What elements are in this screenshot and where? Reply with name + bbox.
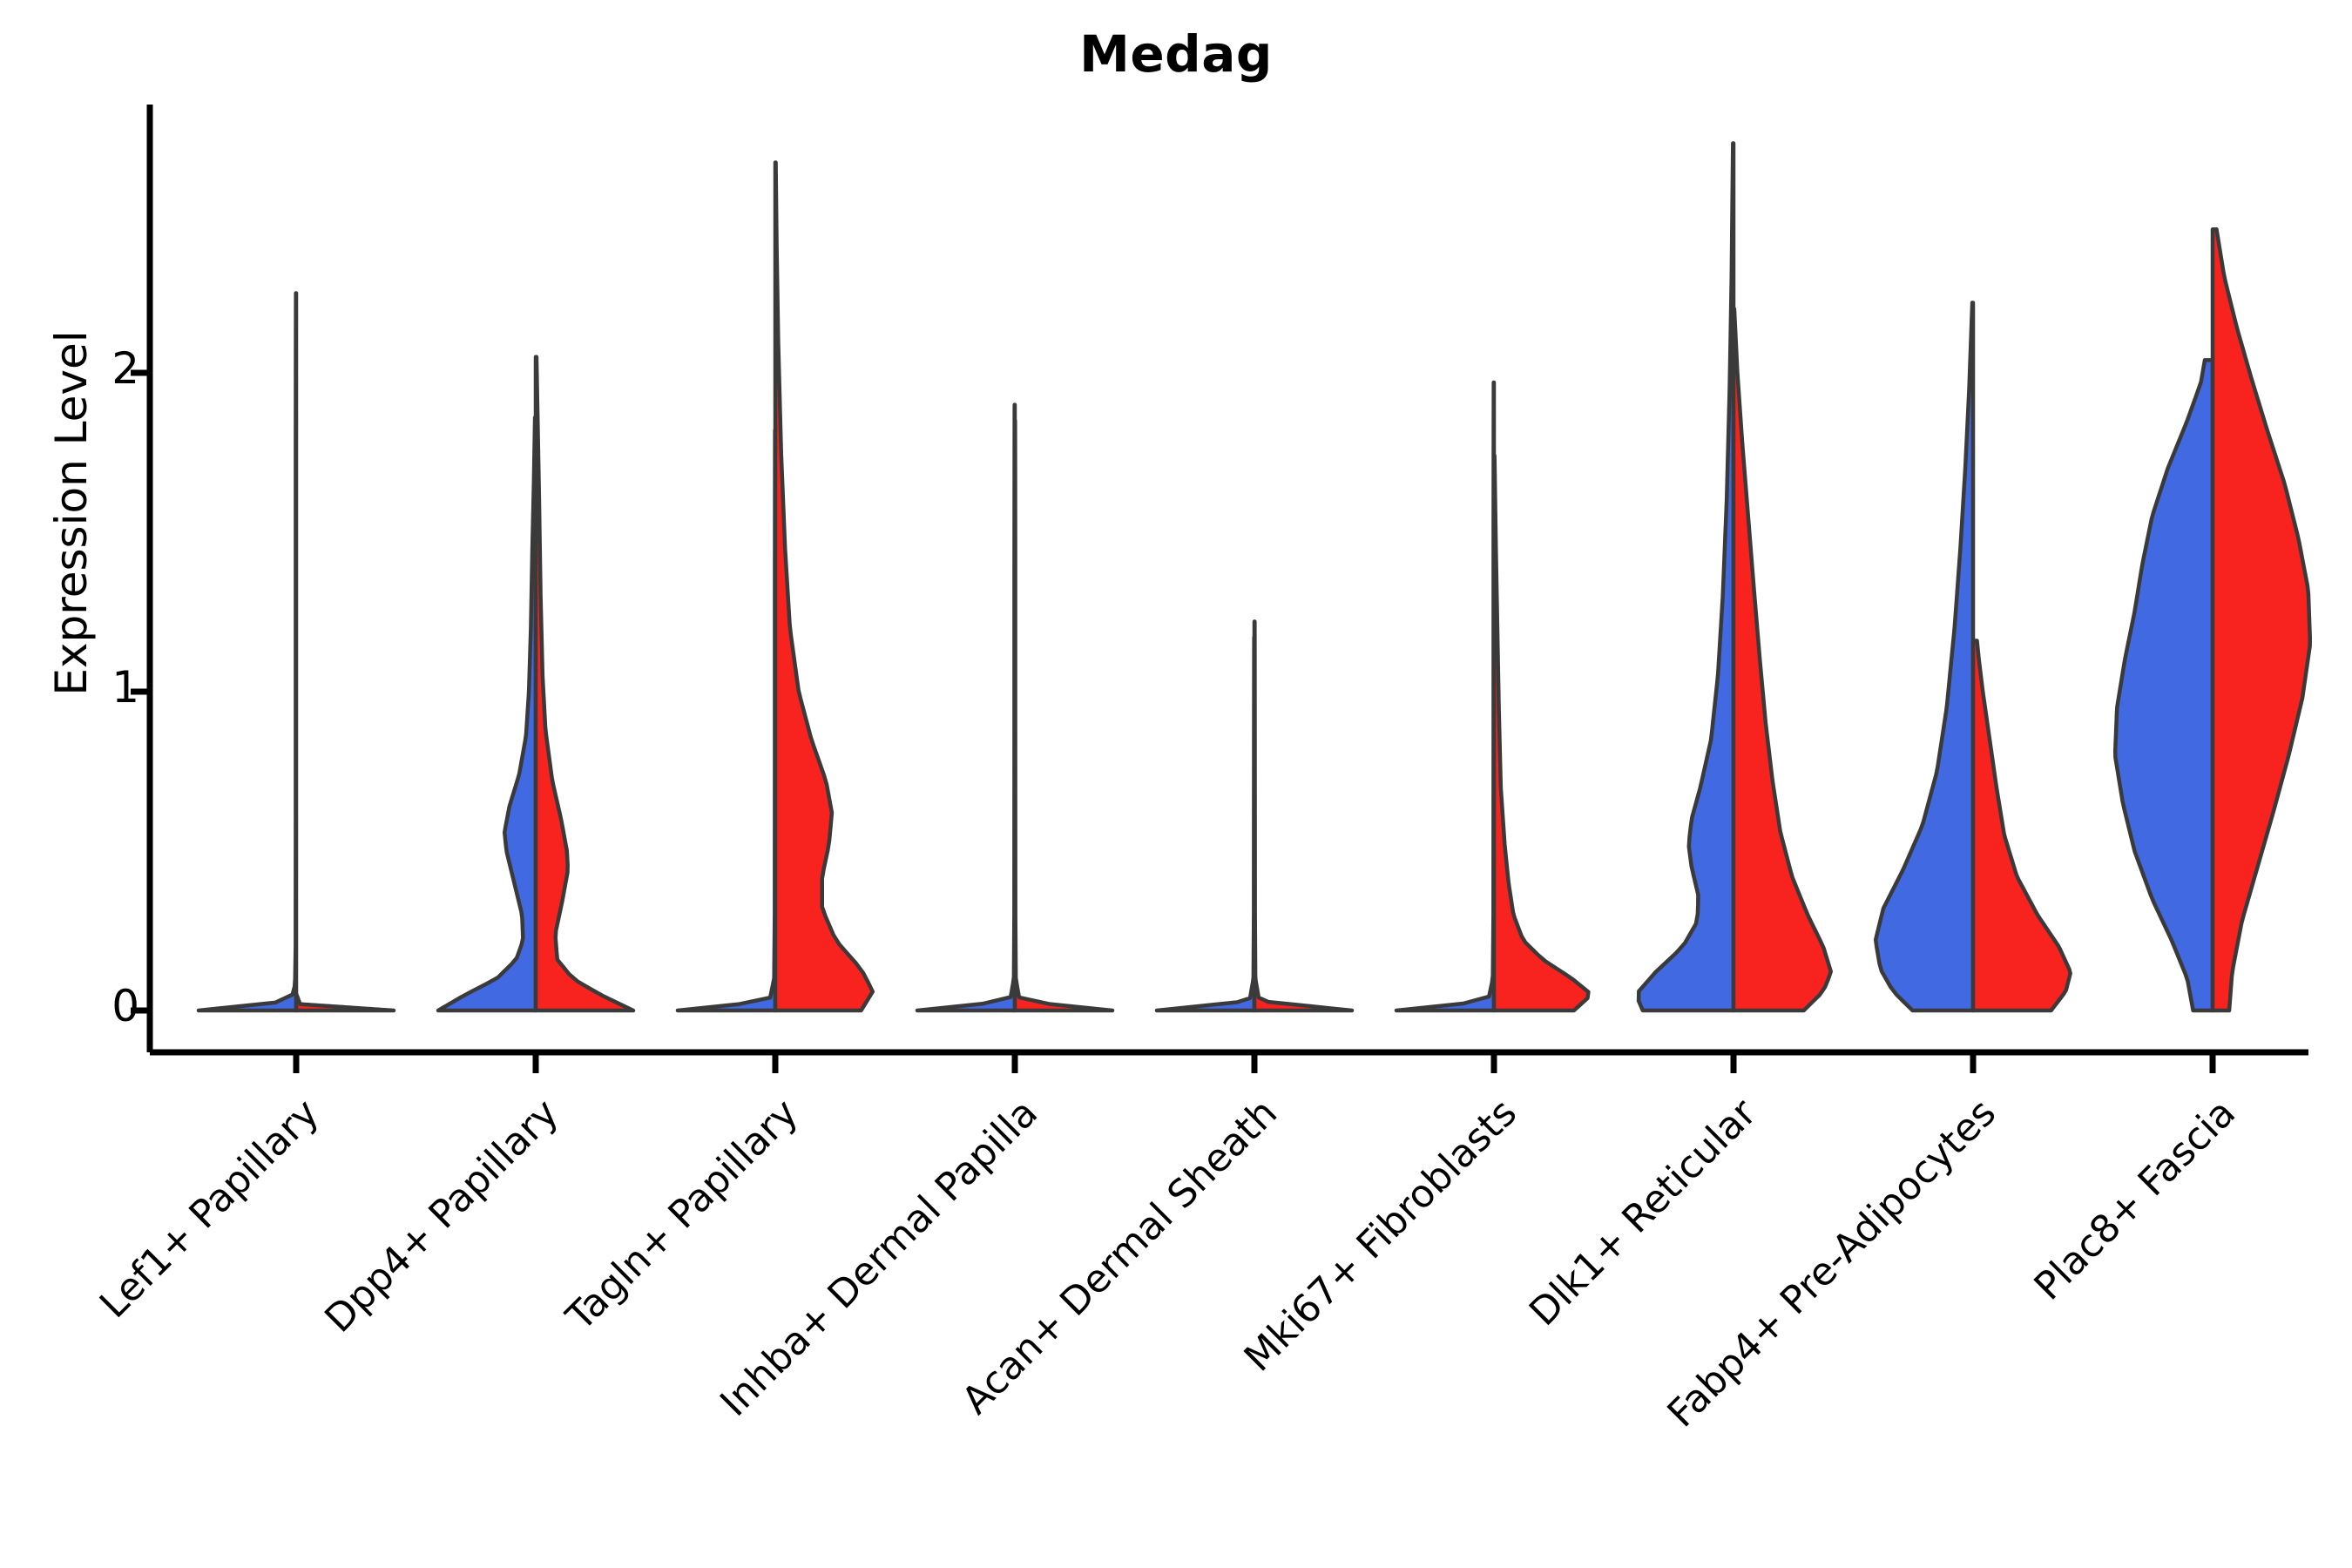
x-tick-label-5: Mki67+ Fibroblasts [1125, 1091, 1525, 1491]
x-tick-label-2: Tagln+ Papillary [406, 1091, 807, 1491]
x-tick-label-6: Dlk1+ Reticular [1364, 1091, 1765, 1491]
x-tick-label-0: Lef1+ Papillary [0, 1091, 328, 1491]
x-tick-label-3: Inhba+ Dermal Papilla [645, 1091, 1046, 1491]
x-tick-label-7: Fabp4+ Pre-Adipocytes [1604, 1091, 2004, 1491]
x-tick-label-1: Dpp4+ Papillary [166, 1091, 567, 1491]
violin-plot-figure: Medag Expression Level 012 Lef1+ Papilla… [0, 0, 2352, 1568]
x-tick-label-8: Plac8+ Fascia [1843, 1091, 2244, 1491]
x-tick-label-4: Acan+ Dermal Sheath [885, 1091, 1286, 1491]
x-tick-labels: Lef1+ PapillaryDpp4+ PapillaryTagln+ Pap… [0, 0, 2352, 1568]
